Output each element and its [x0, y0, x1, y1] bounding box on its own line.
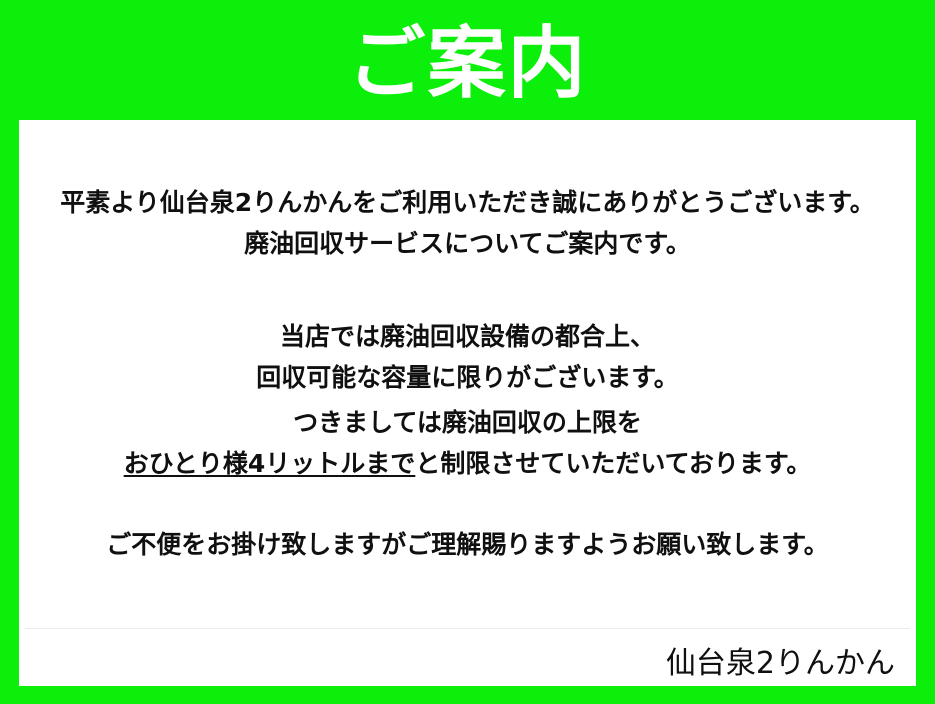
paragraph-limit: つきましては廃油回収の上限を おひとり様4リットルまでと制限させていただいており… [19, 402, 916, 484]
notice-body: 平素より仙台泉2りんかんをご利用いただき誠にありがとうございます。 廃油回収サー… [19, 120, 916, 628]
paragraph-capacity: 当店では廃油回収設備の都合上、 回収可能な容量に限りがございます。 [19, 316, 916, 398]
notice-poster: ご案内 平素より仙台泉2りんかんをご利用いただき誠にありがとうございます。 廃油… [0, 0, 935, 704]
capacity-line-2: 回収可能な容量に限りがございます。 [19, 357, 916, 398]
apology-line-1: ご不便をお掛け致しますがご理解賜りますようお願い致します。 [19, 524, 916, 565]
capacity-line-1: 当店では廃油回収設備の都合上、 [19, 316, 916, 357]
intro-line-2: 廃油回収サービスについてご案内です。 [19, 223, 916, 264]
paragraph-apology: ご不便をお掛け致しますがご理解賜りますようお願い致します。 [19, 524, 916, 565]
limit-line-2-rest: と制限させていただいております。 [415, 449, 811, 478]
store-signature: 仙台泉2りんかん [19, 642, 916, 686]
limit-line-1: つきましては廃油回収の上限を [19, 402, 916, 443]
intro-line-1: 平素より仙台泉2りんかんをご利用いただき誠にありがとうございます。 [19, 182, 916, 223]
limit-line-2: おひとり様4リットルまでと制限させていただいております。 [19, 443, 916, 484]
paragraph-intro: 平素より仙台泉2りんかんをご利用いただき誠にありがとうございます。 廃油回収サー… [19, 182, 916, 264]
page-title: ご案内 [0, 16, 935, 112]
notice-card: 平素より仙台泉2りんかんをご利用いただき誠にありがとうございます。 廃油回収サー… [19, 120, 916, 686]
limit-amount-underlined: おひとり様4リットルまで [124, 449, 416, 478]
signature-divider [25, 628, 910, 629]
